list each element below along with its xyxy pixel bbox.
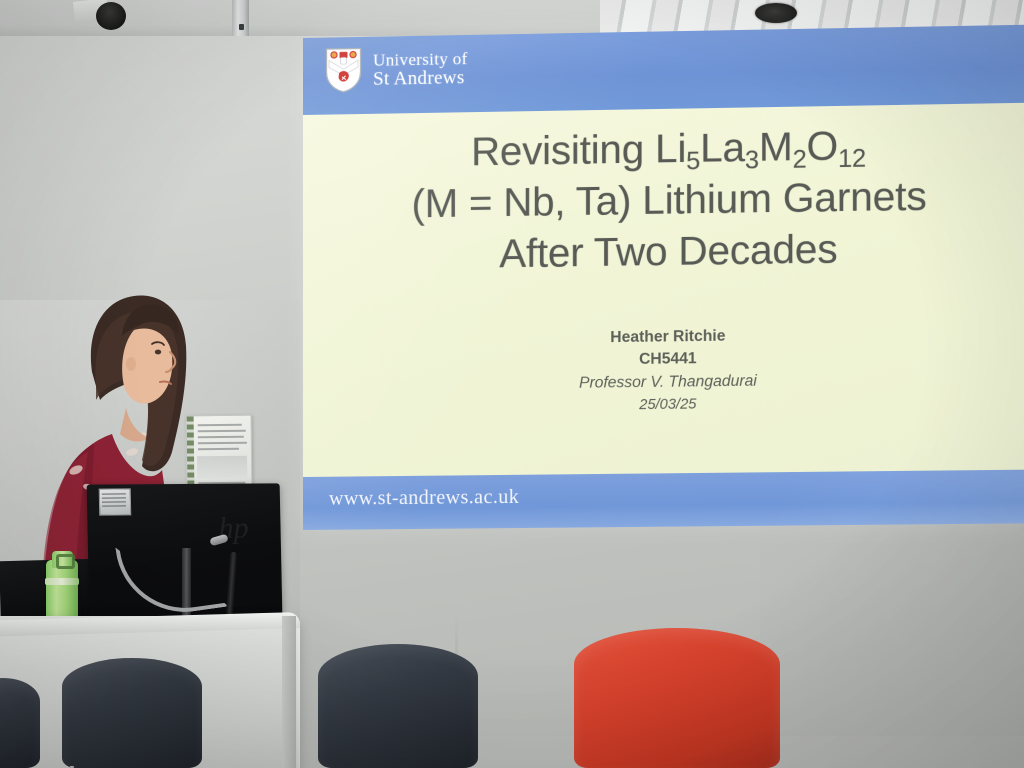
poster-text-line [198, 448, 239, 450]
title-sub-2: 2 [793, 145, 807, 173]
university-wordmark: University of St Andrews [373, 49, 467, 89]
chair-backrest [62, 658, 202, 768]
poster-image-block [197, 456, 247, 479]
chair-backrest [0, 678, 40, 768]
lectern-right-edge [282, 616, 296, 768]
poster-text-line [198, 430, 246, 432]
slide-title-line-3: After Two Decades [303, 221, 1024, 283]
monitor-sticker-icon [99, 488, 132, 515]
chair-3[interactable] [318, 644, 478, 768]
chair-4[interactable] [574, 628, 780, 768]
university-logo-lockup: University of St Andrews [325, 45, 468, 94]
poster-sleeve-edge [187, 416, 195, 489]
chair-2[interactable] [62, 658, 202, 768]
title-formula-m: M [759, 125, 793, 170]
slide-footer-url: www.st-andrews.ac.uk [329, 486, 519, 511]
title-sub-5: 5 [686, 147, 700, 175]
title-sub-3: 3 [745, 146, 759, 174]
title-formula-la: La [700, 126, 745, 171]
title-sub-12: 12 [838, 144, 866, 173]
title-formula-pre: Revisiting Li [471, 127, 686, 175]
ceiling-speaker-icon [755, 3, 797, 23]
title-formula-o: O [807, 124, 839, 169]
wordmark-line-2: St Andrews [373, 68, 467, 89]
ceiling-camera-icon [96, 2, 126, 30]
chair-1[interactable] [0, 678, 40, 768]
projected-slide: University of St Andrews Revisiting Li5L… [303, 25, 1024, 530]
lecture-room-scene: University of St Andrews Revisiting Li5L… [0, 0, 1024, 768]
wall-poster [186, 415, 253, 491]
slide-title: Revisiting Li5La3M2O12 (M = Nb, Ta) Lith… [303, 118, 1024, 283]
poster-text-line [198, 424, 242, 426]
water-bottle-handle-icon [56, 554, 75, 569]
st-andrews-crest-icon [325, 47, 362, 94]
slide-title-line-2: (M = Nb, Ta) Lithium Garnets [303, 169, 1024, 232]
chair-backrest [574, 628, 780, 768]
water-bottle-collar [45, 578, 79, 585]
poster-text-line [198, 442, 247, 444]
ceiling-sensor-led [239, 24, 244, 30]
poster-text-line [198, 436, 244, 438]
slide-byline: Heather Ritchie CH5441 Professor V. Than… [303, 322, 1024, 420]
chair-backrest [318, 644, 478, 768]
